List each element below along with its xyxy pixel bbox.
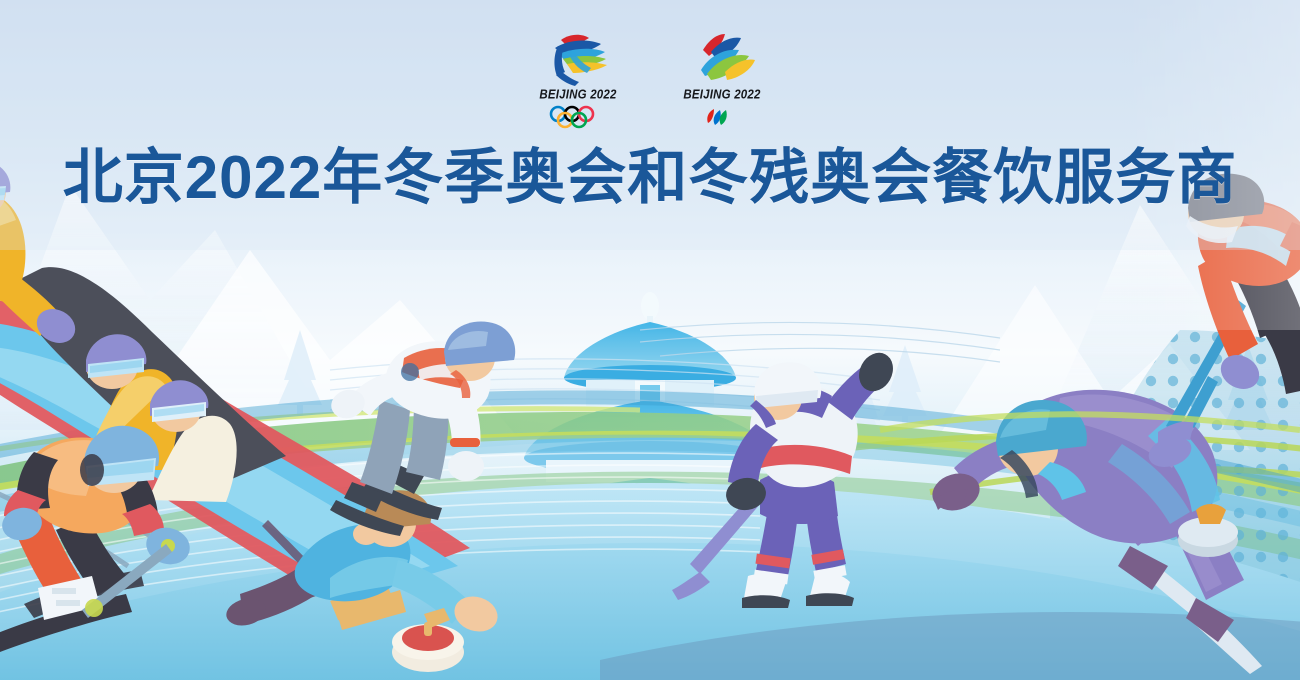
beijing-2022-banner: BEIJING 2022 <box>0 0 1300 680</box>
emblem-row: BEIJING 2022 <box>0 28 1300 129</box>
paralympic-wordmark: BEIJING 2022 <box>683 88 760 101</box>
olympic-wordmark: BEIJING 2022 <box>539 88 616 101</box>
banner-overlay: BEIJING 2022 <box>0 0 1300 680</box>
paralympic-agitos-icon <box>690 105 754 129</box>
flying-high-emblem-icon <box>681 28 763 86</box>
page-title: 北京2022年冬季奥会和冬残奥会餐饮服务商 <box>0 142 1300 214</box>
olympic-emblem: BEIJING 2022 <box>532 28 624 129</box>
winter-dream-emblem-icon <box>537 28 619 86</box>
olympic-rings-icon <box>546 105 610 129</box>
paralympic-emblem: BEIJING 2022 <box>676 28 768 129</box>
